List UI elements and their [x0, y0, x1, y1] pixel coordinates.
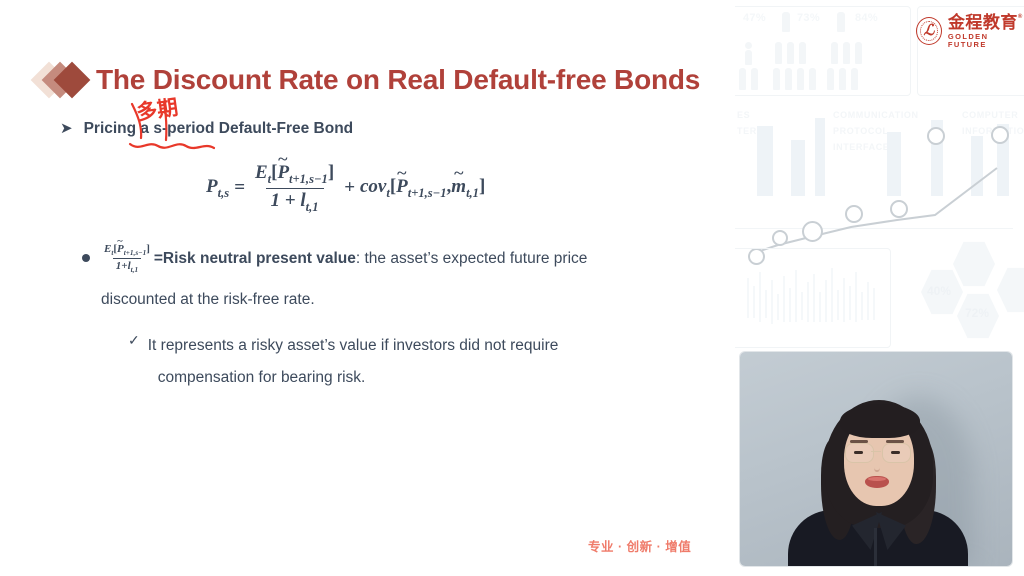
inline-fraction-denominator: 1+lt,1 — [113, 258, 141, 274]
presenter-fringe — [840, 404, 920, 438]
bullet-1-key-term: =Risk neutral present value — [154, 250, 356, 267]
bullet-2-body: It represents a risky asset’s value if i… — [148, 330, 559, 394]
infographic-chart-node — [802, 221, 823, 242]
infographic-hex-label-0: 40% — [927, 284, 951, 298]
infographic-spark — [861, 292, 863, 320]
equation-lhs: Pt,s — [206, 176, 229, 201]
pictogram-person — [782, 12, 790, 32]
infographic-chart-node — [927, 127, 945, 145]
presenter-glasses-bridge — [871, 451, 881, 452]
infographic-spark — [843, 278, 845, 322]
pictogram-person — [839, 68, 846, 90]
infographic-spark — [807, 282, 809, 322]
infographic-spark — [855, 272, 857, 322]
infographic-hexagon — [997, 266, 1024, 314]
bullet-1-description: : the asset’s expected future price — [356, 250, 588, 267]
infographic-spark — [771, 280, 773, 324]
brand-tagline: 专业 · 创新 · 增值 — [588, 536, 691, 555]
bullet-item-1: Et[Pt+1,s−1] 1+lt,1 =Risk neutral presen… — [82, 243, 587, 308]
logo-text: 金程教育 ® GOLDEN FUTURE — [948, 14, 1024, 48]
equation-covariance: covt[Pt+1,s−1,mt,1] — [360, 176, 485, 201]
section-heading: Pricing a s-period Default-Free Bond — [84, 120, 354, 138]
pictogram-person — [827, 68, 834, 90]
infographic-word-4: INTERFACE — [833, 142, 889, 152]
infographic-spark — [795, 270, 797, 322]
pictogram-person — [751, 68, 758, 90]
inline-fraction: Et[Pt+1,s−1] 1+lt,1 — [101, 243, 153, 274]
logo-registered-mark: ® — [1018, 14, 1023, 20]
infographic-chart-node — [991, 126, 1009, 144]
infographic-percent-1: 73% — [797, 12, 820, 24]
fraction-numerator: Et[Pt+1,s−1] — [250, 162, 339, 188]
infographic-word-0: ES — [737, 110, 750, 120]
pictogram-person — [773, 68, 780, 90]
pictogram-person — [799, 42, 806, 64]
equation-fraction: Et[Pt+1,s−1] 1 + lt,1 — [250, 162, 339, 215]
brand-logo: ℒ 金程教育 ® GOLDEN FUTURE — [916, 14, 1024, 48]
infographic-spark — [753, 286, 755, 318]
infographic-word-1: TER — [737, 126, 757, 136]
section-heading-row: ➤ Pricing a s-period Default-Free Bond — [60, 120, 353, 138]
bullet-2-line-2: compensation for bearing risk. — [158, 362, 559, 394]
main-equation: Pt,s = Et[Pt+1,s−1] 1 + lt,1 + covt[Pt+1… — [206, 162, 485, 215]
pictogram-person — [745, 42, 752, 49]
pictogram-person — [787, 42, 794, 64]
infographic-word-3: PROTOCOL — [833, 126, 889, 136]
chevron-right-icon: ➤ — [60, 121, 73, 136]
infographic-word-5: COMPUTER — [962, 110, 1018, 120]
pictogram-person — [797, 68, 804, 90]
bullet-1-line-1: Et[Pt+1,s−1] 1+lt,1 =Risk neutral presen… — [101, 243, 587, 274]
infographic-spark — [813, 274, 815, 322]
pictogram-person — [745, 50, 752, 65]
pictogram-person — [843, 42, 850, 64]
infographic-percent-0: 47% — [743, 12, 766, 24]
presentation-slide: 47% 73% 84% ES TER CO — [0, 0, 1024, 576]
background-infographic: 47% 73% 84% ES TER CO — [735, 0, 1024, 350]
infographic-spark — [837, 290, 839, 320]
presenter-eye-left — [854, 451, 863, 454]
infographic-spark — [777, 294, 779, 320]
pictogram-person — [809, 68, 816, 90]
page-title: The Discount Rate on Real Default-free B… — [96, 64, 700, 96]
bullet-1-line-2: discounted at the risk-free rate. — [101, 291, 587, 308]
presenter-shirt-placket — [874, 528, 877, 566]
infographic-chart-node — [890, 200, 908, 218]
infographic-chart-node — [845, 205, 863, 223]
infographic-spark — [819, 292, 821, 322]
infographic-chart-node — [772, 230, 788, 246]
pictogram-person — [855, 42, 862, 64]
infographic-spark — [867, 282, 869, 320]
presenter-webcam-video[interactable] — [740, 352, 1012, 566]
pictogram-person — [831, 42, 838, 64]
infographic-spark — [783, 276, 785, 322]
infographic-spark — [873, 288, 875, 320]
inline-fraction-numerator: Et[Pt+1,s−1] — [101, 243, 153, 258]
bullet-dot-icon — [82, 254, 90, 262]
logo-english-name: GOLDEN FUTURE — [948, 33, 1024, 48]
infographic-hex-label-1: 72% — [965, 306, 989, 320]
infographic-spark — [765, 290, 767, 318]
infographic-spark — [801, 292, 803, 320]
bullet-2-line-1: It represents a risky asset’s value if i… — [148, 330, 559, 362]
infographic-spark — [789, 288, 791, 322]
infographic-spark — [831, 268, 833, 322]
presenter-eye-right — [891, 451, 900, 454]
logo-seal-icon: ℒ — [916, 17, 942, 45]
infographic-spark — [759, 272, 761, 322]
logo-chinese-name: 金程教育 — [948, 14, 1018, 31]
equation-equals: = — [234, 177, 245, 199]
logo-seal-char: ℒ — [924, 24, 935, 39]
infographic-spark — [849, 286, 851, 320]
presenter-lip-highlight — [868, 477, 886, 481]
bullet-1-body: Et[Pt+1,s−1] 1+lt,1 =Risk neutral presen… — [101, 243, 587, 308]
presenter-nose — [874, 460, 880, 472]
pictogram-person — [837, 12, 845, 32]
pictogram-person — [785, 68, 792, 90]
pictogram-person — [775, 42, 782, 64]
check-mark-icon: ✓ — [128, 330, 140, 351]
diamond-bullet-icon — [36, 62, 92, 98]
equation-plus: + — [344, 177, 355, 199]
bullet-item-2: ✓ It represents a risky asset’s value if… — [128, 330, 558, 394]
infographic-word-2: COMMUNICATION — [833, 110, 919, 120]
infographic-spark — [825, 280, 827, 322]
infographic-percent-2: 84% — [855, 12, 878, 24]
slide-title-row: The Discount Rate on Real Default-free B… — [36, 62, 700, 98]
fraction-denominator: 1 + lt,1 — [266, 188, 324, 215]
right-side-panel: 47% 73% 84% ES TER CO — [735, 0, 1024, 576]
infographic-spark — [747, 278, 749, 318]
pictogram-person — [851, 68, 858, 90]
pictogram-person — [739, 68, 746, 90]
